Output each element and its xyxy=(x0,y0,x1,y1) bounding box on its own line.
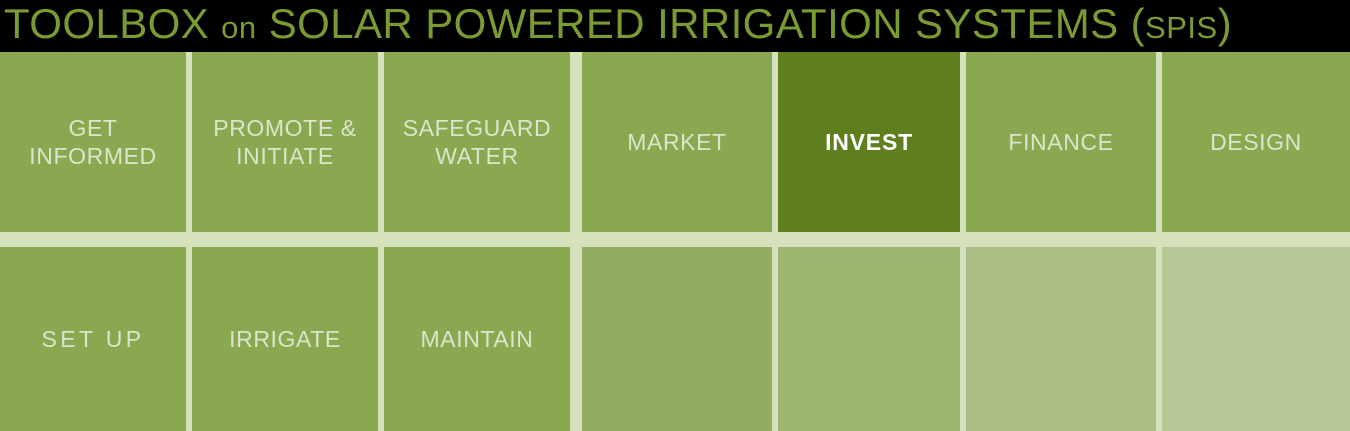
tile-design[interactable]: DESIGN xyxy=(1162,52,1350,232)
tile-irrigate[interactable]: IRRIGATE xyxy=(192,247,378,431)
tile-promote-initiate[interactable]: PROMOTE &INITIATE xyxy=(192,52,378,232)
tile-empty-2-4 xyxy=(582,247,772,431)
tile-empty-2-5 xyxy=(778,247,960,431)
tile-label: MAINTAIN xyxy=(415,325,540,353)
tile-label: IRRIGATE xyxy=(223,325,347,353)
title-paren-open: ( xyxy=(1131,0,1145,47)
tile-label: MARKET xyxy=(621,128,732,156)
title-segment-abbreviation: SPIS xyxy=(1145,10,1218,45)
tile-label: FINANCE xyxy=(1002,128,1119,156)
tile-label: SAFEGUARDWATER xyxy=(397,114,558,170)
title-bar: TOOLBOX on SOLAR POWERED IRRIGATION SYST… xyxy=(0,0,1350,52)
tile-get-informed[interactable]: GETINFORMED xyxy=(0,52,186,232)
tile-market[interactable]: MARKET xyxy=(582,52,772,232)
title-segment-subject: SOLAR POWERED IRRIGATION SYSTEMS xyxy=(269,0,1119,47)
tile-label: GETINFORMED xyxy=(23,114,162,170)
tile-finance[interactable]: FINANCE xyxy=(966,52,1156,232)
tile-label: DESIGN xyxy=(1204,128,1308,156)
title-segment-toolbox: TOOLBOX xyxy=(4,0,209,47)
title-segment-on: on xyxy=(221,10,256,45)
tile-safeguard-water[interactable]: SAFEGUARDWATER xyxy=(384,52,570,232)
tile-label: PROMOTE &INITIATE xyxy=(207,114,362,170)
toolbox-overview-page: TOOLBOX on SOLAR POWERED IRRIGATION SYST… xyxy=(0,0,1350,431)
tile-label: INVEST xyxy=(819,128,919,156)
tile-empty-2-7 xyxy=(1162,247,1350,431)
tile-empty-2-6 xyxy=(966,247,1156,431)
page-title: TOOLBOX on SOLAR POWERED IRRIGATION SYST… xyxy=(4,0,1232,52)
tile-row-primary: GETINFORMEDPROMOTE &INITIATESAFEGUARDWAT… xyxy=(0,52,1350,232)
tile-label: SET UP xyxy=(35,325,150,353)
tile-row-secondary: SET UPIRRIGATEMAINTAIN xyxy=(0,247,1350,431)
title-paren-close: ) xyxy=(1218,0,1232,47)
tile-grid: GETINFORMEDPROMOTE &INITIATESAFEGUARDWAT… xyxy=(0,52,1350,431)
tile-invest[interactable]: INVEST xyxy=(778,52,960,232)
tile-set-up[interactable]: SET UP xyxy=(0,247,186,431)
tile-maintain[interactable]: MAINTAIN xyxy=(384,247,570,431)
